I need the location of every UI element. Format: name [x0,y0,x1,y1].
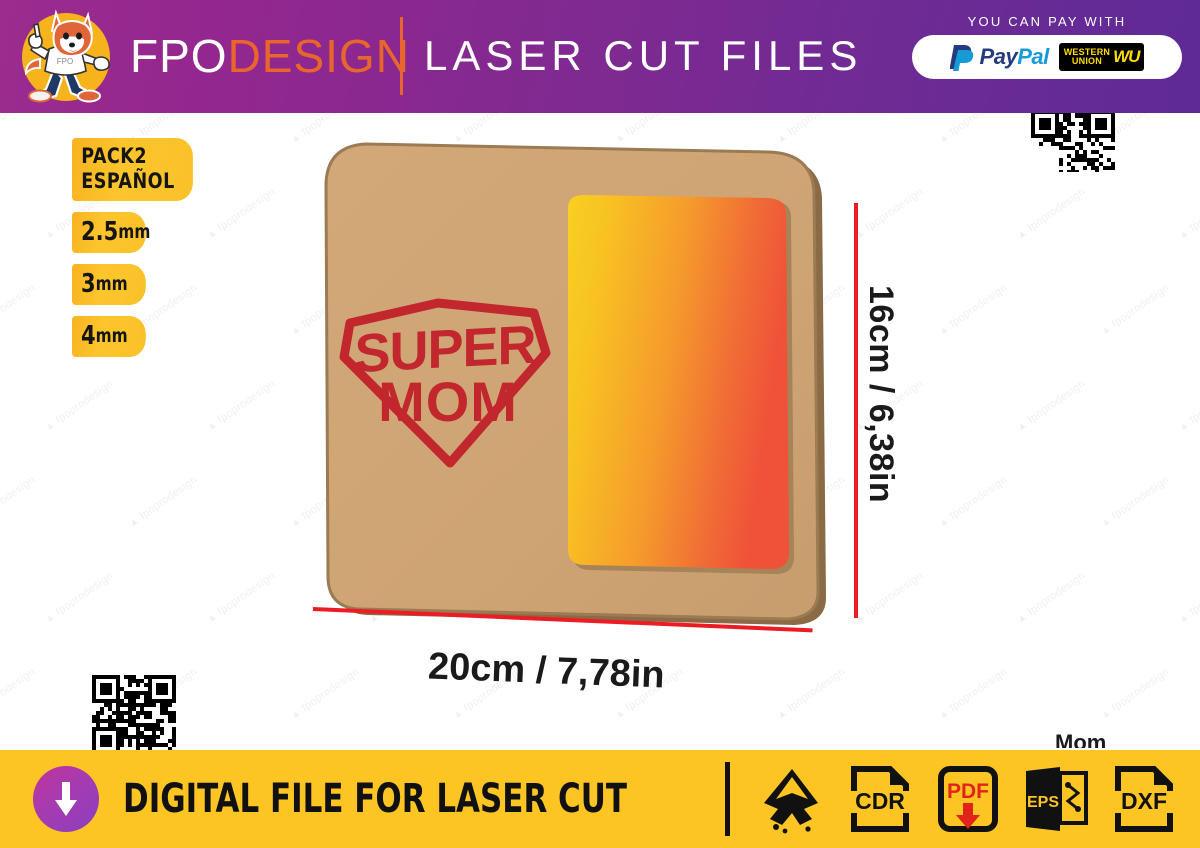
badge-list: PACK2 ESPAÑOL 2.5mm 3mm 4mm [72,138,202,368]
watermark-text: ▲fpoprodesign [774,474,848,531]
panel-recess [573,198,794,574]
pack-badge: PACK2 ESPAÑOL [72,138,193,201]
svg-text:MOM: MOM [378,370,518,433]
board-face [326,144,818,619]
banner-divider [725,762,730,836]
watermark-text: ▲fpoprodesign [366,378,440,435]
watermark-text: ▲fpoprodesign [1098,666,1172,723]
watermark-text: ▲fpoprodesign [0,474,37,531]
watermark-text: ▲fpoprodesign [450,282,524,339]
gradient-panel [568,195,789,569]
wu-mark: WU [1113,47,1139,67]
watermark-text: ▲fpoprodesign [936,666,1010,723]
thickness-value-2: 3 [81,270,96,298]
thickness-unit-3: mm [96,322,128,350]
page-title: LASER CUT FILES [424,32,862,80]
board-edge [334,150,826,625]
watermark-text: ▲fpoprodesign [1176,378,1200,435]
watermark-text: ▲fpoprodesign [126,474,200,531]
product-illustration: SUPER MOM [0,0,1200,848]
fox-mascot-icon: FPO [16,7,116,107]
qr-code-top [1031,110,1115,172]
watermark-text: ▲fpoprodesign [936,282,1010,339]
dxf-label: DXF [1121,788,1167,814]
thickness-value-1: 2.5 [81,218,118,246]
watermark-text: ▲fpoprodesign [936,474,1010,531]
paypal-icon [950,43,976,71]
watermark-text: ▲fpoprodesign [366,186,440,243]
western-union-logo: WESTERN UNION WU [1059,43,1145,71]
watermark-text: ▲fpoprodesign [0,666,37,723]
watermark-text: ▲fpoprodesign [774,666,848,723]
watermark-text: ▲fpoprodesign [852,570,926,627]
watermark-text: ▲fpoprodesign [1014,570,1088,627]
watermark-text: ▲fpoprodesign [612,282,686,339]
watermark-text: ▲fpoprodesign [852,186,926,243]
watermark-text: ▲fpoprodesign [1098,474,1172,531]
eps-label: EPS [1027,794,1059,811]
thickness-unit-1: mm [118,218,150,246]
thickness-value-3: 4 [81,322,96,350]
watermark-text: ▲fpoprodesign [774,282,848,339]
watermark-text: ▲fpoprodesign [450,474,524,531]
paypal-pay: Pay [980,44,1018,69]
width-dimension-line [313,607,813,632]
poster-canvas: ▲fpoprodesign▲fpoprodesign▲fpoprodesign▲… [0,0,1200,848]
wu-words: WESTERN UNION [1064,48,1110,66]
payment-methods: YOU CAN PAY WITH PayPal WESTERN UNION WU [912,14,1182,79]
qr-code-bottom [92,675,176,753]
header-divider [400,17,403,95]
watermark-text: ▲fpoprodesign [528,186,602,243]
cdr-file-icon: CDR [844,763,916,835]
payment-label: YOU CAN PAY WITH [912,14,1182,29]
height-dimension-line [854,203,858,618]
dxf-file-icon: DXF [1108,763,1180,835]
pack-badge-line1: PACK2 [81,144,147,169]
cdr-label: CDR [855,788,905,814]
watermark-text: ▲fpoprodesign [204,570,278,627]
svg-text:SUPER: SUPER [355,315,536,384]
inkscape-icon [756,763,828,835]
thickness-badge-1: 2.5mm [72,212,146,253]
paypal-logo: PayPal [950,43,1049,71]
watermark-text: ▲fpoprodesign [1176,570,1200,627]
watermark-text: ▲fpoprodesign [42,570,116,627]
svg-text:FPO: FPO [57,57,73,66]
watermark-text: ▲fpoprodesign [288,474,362,531]
svg-file-icon: SVG [1196,763,1200,835]
width-dimension-label: 20cm / 7,78in [427,645,665,697]
watermark-text: ▲fpoprodesign [1098,282,1172,339]
watermark-text: ▲fpoprodesign [204,378,278,435]
payment-pill: PayPal WESTERN UNION WU [912,35,1182,79]
height-dimension-label: 16cm / 6,38in [861,285,900,503]
watermark-text: ▲fpoprodesign [288,666,362,723]
watermark-text: ▲fpoprodesign [690,570,764,627]
brand-design: DESIGN [228,30,410,82]
bottom-banner: DIGITAL FILE FOR LASER CUT CDR PDF [0,750,1200,848]
watermark-text: ▲fpoprodesign [528,378,602,435]
pack-badge-line2: ESPAÑOL [81,169,174,194]
pdf-file-icon: PDF [932,763,1004,835]
wu-line2: UNION [1064,57,1110,66]
watermark-text: ▲fpoprodesign [288,282,362,339]
banner-text: DIGITAL FILE FOR LASER CUT [123,776,627,822]
pdf-label: PDF [947,780,989,803]
watermark-text: ▲fpoprodesign [1176,186,1200,243]
thickness-badge-2: 3mm [72,264,146,305]
format-icon-list: CDR PDF EPS DXF [756,763,1200,835]
paypal-wordmark: PayPal [980,44,1049,70]
eps-file-icon: EPS [1020,763,1092,835]
thickness-unit-2: mm [96,270,128,298]
watermark-text: ▲fpoprodesign [0,282,37,339]
brand-fpo: FPO [130,30,228,82]
watermark-text: ▲fpoprodesign [366,570,440,627]
page-header: FPO FPODESIGN LASER CUT FILES YOU CAN PA… [0,0,1200,113]
clipped-text: Mom [1055,730,1106,748]
watermark-text: ▲fpoprodesign [690,378,764,435]
watermark-text: ▲fpoprodesign [204,186,278,243]
super-mom-emblem: SUPER MOM [344,303,546,463]
watermark-text: ▲fpoprodesign [42,378,116,435]
watermark-text: ▲fpoprodesign [1014,378,1088,435]
paypal-pal: Pal [1017,44,1049,69]
thickness-badge-3: 4mm [72,316,146,357]
watermark-text: ▲fpoprodesign [612,474,686,531]
brand-wordmark: FPODESIGN [130,28,410,84]
download-arrow-icon [33,766,99,832]
watermark-layer: ▲fpoprodesign▲fpoprodesign▲fpoprodesign▲… [0,0,1200,848]
watermark-text: ▲fpoprodesign [1014,186,1088,243]
watermark-text: ▲fpoprodesign [690,186,764,243]
